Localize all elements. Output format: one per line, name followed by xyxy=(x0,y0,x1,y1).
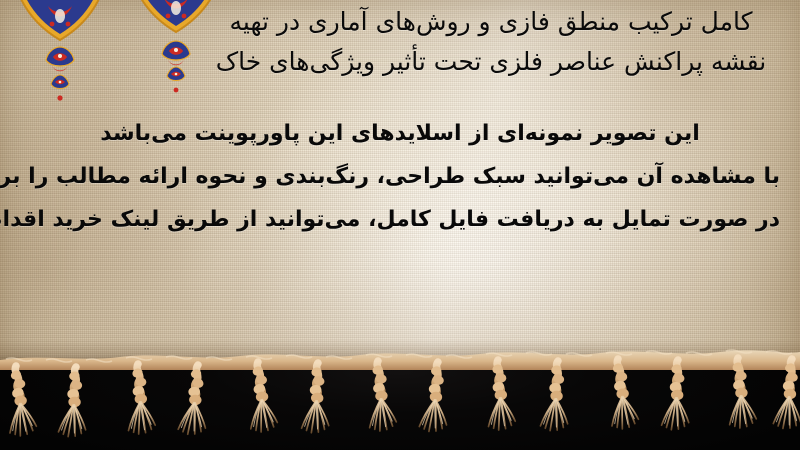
body-line-3: در صورت تمایل به دریافت فایل کامل، می‌تو… xyxy=(20,198,780,241)
slide-canvas: کامل ترکیب منطق فازی و روش‌های آماری در … xyxy=(0,0,800,450)
body-line-1: این تصویر نمونه‌ای از اسلایدهای این پاور… xyxy=(20,112,780,155)
title-line-2: نقشه پراکنش عناصر فلزی تحت تأثیر ویژگی‌ه… xyxy=(200,42,782,82)
title-line-1: کامل ترکیب منطق فازی و روش‌های آماری در … xyxy=(200,2,782,42)
slide-body: این تصویر نمونه‌ای از اسلایدهای این پاور… xyxy=(0,112,800,241)
bottom-black-panel xyxy=(0,364,800,450)
slide-title: کامل ترکیب منطق فازی و روش‌های آماری در … xyxy=(0,2,800,82)
body-line-2: با مشاهده آن می‌توانید سبک طراحی، رنگ‌بن… xyxy=(20,155,780,198)
